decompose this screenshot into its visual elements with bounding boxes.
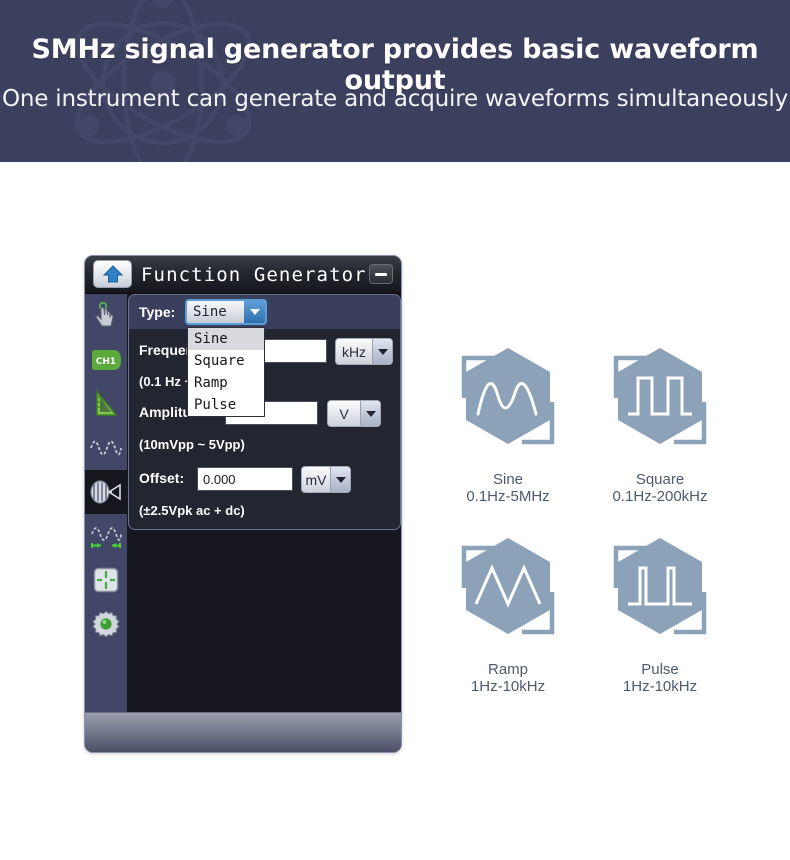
sine-hexagon-icon bbox=[432, 340, 584, 460]
window-titlebar: Function Generator bbox=[85, 256, 402, 294]
minimize-button[interactable] bbox=[369, 264, 393, 284]
type-value: Sine bbox=[187, 301, 244, 323]
banner-subtitle: One instrument can generate and acquire … bbox=[0, 86, 790, 112]
amplitude-unit-arrow[interactable] bbox=[360, 401, 380, 426]
tool-sidebar: CH1 bbox=[85, 294, 127, 714]
ramp-hexagon-icon bbox=[432, 530, 584, 650]
gear-settings-icon bbox=[92, 610, 120, 638]
function-generator-icon bbox=[89, 480, 123, 504]
waveform-card-ramp[interactable]: Ramp 1Hz-10kHz bbox=[432, 530, 584, 695]
waveform-card-name: Ramp bbox=[432, 661, 584, 678]
chevron-down-icon bbox=[378, 349, 388, 355]
waveform-card-range: 1Hz-10kHz bbox=[432, 678, 584, 695]
waveform-card-name: Square bbox=[584, 471, 736, 488]
hand-pointer-icon bbox=[93, 302, 119, 330]
sidebar-item-wave-measure[interactable] bbox=[85, 514, 127, 558]
waveform-card-range: 0.1Hz-5MHz bbox=[432, 488, 584, 505]
home-button[interactable] bbox=[93, 260, 132, 288]
sidebar-item-measure-ruler[interactable] bbox=[85, 382, 127, 426]
sidebar-item-settings[interactable] bbox=[85, 602, 127, 646]
sidebar-item-function-generator[interactable] bbox=[85, 470, 127, 514]
waveform-card-name: Pulse bbox=[584, 661, 736, 678]
waveform-card-grid: Sine 0.1Hz-5MHz Square 0.1Hz-200kHz Ramp… bbox=[432, 340, 762, 712]
wave-measure-icon bbox=[90, 523, 122, 549]
sidebar-item-channel1[interactable]: CH1 bbox=[85, 338, 127, 382]
type-dropdown-list[interactable]: Sine Square Ramp Pulse bbox=[187, 327, 265, 417]
generator-settings-panel: Type: Sine Frequency: kHz (0.1 Hz ~ 5 MH… bbox=[128, 294, 401, 530]
up-arrow-home-icon bbox=[102, 264, 124, 284]
crosshair-grid-icon bbox=[92, 566, 120, 594]
type-label: Type: bbox=[139, 304, 175, 320]
chevron-down-icon bbox=[366, 411, 376, 417]
offset-unit-arrow[interactable] bbox=[330, 467, 350, 492]
page-banner: SMHz signal generator provides basic wav… bbox=[0, 0, 790, 162]
sidebar-item-grid-position[interactable] bbox=[85, 558, 127, 602]
pulse-hexagon-icon bbox=[584, 530, 736, 650]
minimize-icon bbox=[375, 273, 387, 276]
type-dropdown-arrow[interactable] bbox=[244, 301, 265, 323]
sidebar-item-waveform[interactable] bbox=[85, 426, 127, 470]
waveform-card-square[interactable]: Square 0.1Hz-200kHz bbox=[584, 340, 736, 505]
waveform-card-range: 0.1Hz-200kHz bbox=[584, 488, 736, 505]
svg-text:CH1: CH1 bbox=[96, 357, 116, 367]
offset-input[interactable] bbox=[197, 467, 293, 491]
sidebar-item-pointer[interactable] bbox=[85, 294, 127, 338]
offset-unit-dropdown[interactable]: mV bbox=[301, 466, 351, 493]
frequency-unit-arrow[interactable] bbox=[372, 339, 392, 364]
type-option-square[interactable]: Square bbox=[188, 350, 264, 372]
amplitude-hint: (10mVpp ~ 5Vpp) bbox=[139, 437, 245, 452]
type-combobox[interactable]: Sine bbox=[185, 299, 267, 325]
window-title: Function Generator bbox=[141, 264, 367, 286]
sine-wave-icon bbox=[90, 436, 122, 460]
offset-unit-value: mV bbox=[302, 467, 330, 492]
waveform-card-sine[interactable]: Sine 0.1Hz-5MHz bbox=[432, 340, 584, 505]
chevron-down-icon bbox=[336, 477, 346, 483]
generator-content: Type: Sine Frequency: kHz (0.1 Hz ~ 5 MH… bbox=[127, 294, 402, 714]
type-option-pulse[interactable]: Pulse bbox=[188, 394, 264, 416]
waveform-card-pulse[interactable]: Pulse 1Hz-10kHz bbox=[584, 530, 736, 695]
function-generator-window: Function Generator CH1 bbox=[84, 255, 402, 753]
type-option-sine[interactable]: Sine bbox=[188, 328, 264, 350]
chevron-down-icon bbox=[250, 309, 260, 315]
triangle-ruler-icon bbox=[93, 390, 119, 418]
offset-label: Offset: bbox=[139, 470, 184, 486]
amplitude-unit-value: V bbox=[328, 401, 360, 426]
window-bottom-bar bbox=[85, 712, 402, 752]
waveform-card-range: 1Hz-10kHz bbox=[584, 678, 736, 695]
offset-hint: (±2.5Vpk ac + dc) bbox=[139, 503, 245, 518]
ch1-channel-icon: CH1 bbox=[90, 349, 122, 371]
waveform-card-name: Sine bbox=[432, 471, 584, 488]
frequency-unit-dropdown[interactable]: kHz bbox=[335, 338, 393, 365]
amplitude-unit-dropdown[interactable]: V bbox=[327, 400, 381, 427]
frequency-unit-value: kHz bbox=[336, 339, 372, 364]
square-hexagon-icon bbox=[584, 340, 736, 460]
type-option-ramp[interactable]: Ramp bbox=[188, 372, 264, 394]
